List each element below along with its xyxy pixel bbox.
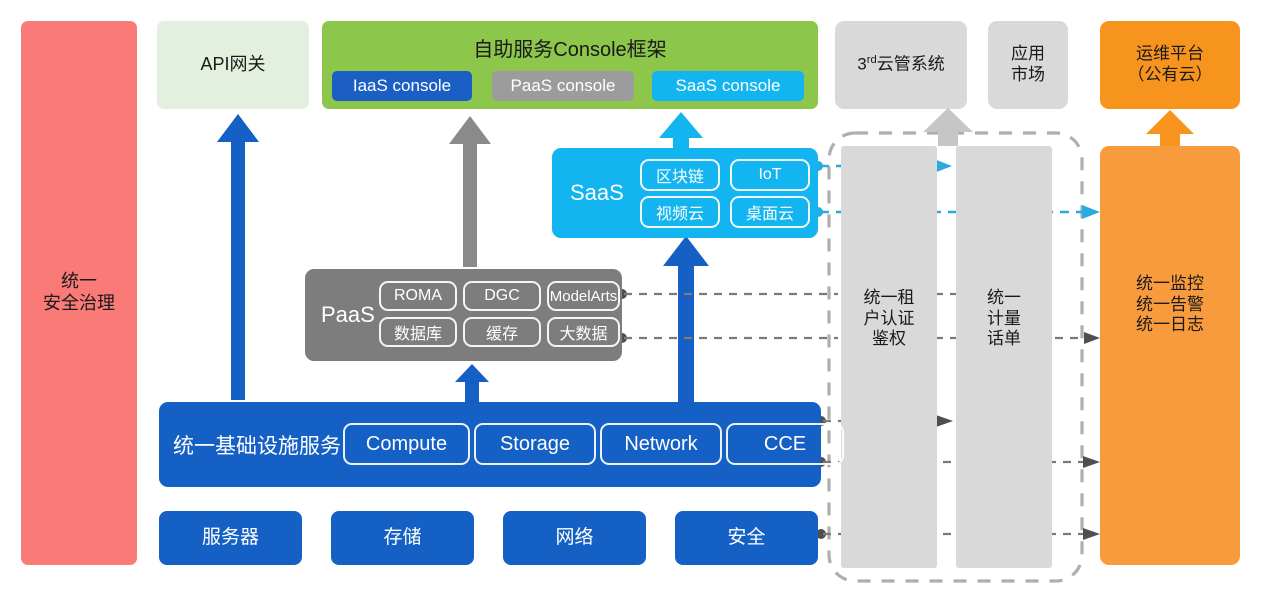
third-party-cloud-mgmt-label: 3rd云管系统	[857, 54, 944, 75]
paas-item-cache[interactable]: 缓存	[463, 317, 541, 347]
resource-box-storage-label: 存储	[383, 526, 421, 549]
paas-item-database-label: 数据库	[394, 320, 442, 344]
monitoring-label: 统一监控 统一告警 统一日志	[1136, 274, 1204, 336]
unified-security-governance-block: 统一 安全治理	[21, 21, 137, 565]
paas-block-label: PaaS	[321, 269, 375, 361]
saas-item-video-cloud-label: 视频云	[656, 200, 704, 224]
unified-infrastructure-block: 统一基础设施服务 Compute Storage Network CCE	[159, 402, 821, 487]
infra-item-storage[interactable]: Storage	[474, 423, 596, 465]
paas-item-roma[interactable]: ROMA	[379, 281, 457, 311]
resource-box-security-label: 安全	[727, 526, 765, 549]
paas-item-roma-label: ROMA	[394, 287, 442, 305]
paas-item-bigdata[interactable]: 大数据	[547, 317, 620, 347]
saas-console-chip[interactable]: SaaS console	[652, 71, 804, 101]
paas-item-dgc-label: DGC	[484, 287, 520, 305]
paas-item-bigdata-label: 大数据	[559, 320, 607, 344]
saas-item-desktop-cloud-label: 桌面云	[746, 200, 794, 224]
saas-item-iot[interactable]: IoT	[730, 159, 810, 191]
ops-platform-block: 运维平台 （公有云）	[1100, 21, 1240, 109]
monitoring-column: 统一监控 统一告警 统一日志	[1100, 146, 1240, 565]
infra-item-storage-label: Storage	[500, 433, 570, 456]
shared-service-column-auth: 统一租 户认证 鉴权	[841, 146, 937, 568]
infra-item-compute[interactable]: Compute	[343, 423, 470, 465]
saas-item-blockchain-label: 区块链	[656, 163, 704, 187]
saas-block: SaaS 区块链 IoT 视频云 桌面云	[552, 148, 818, 238]
paas-console-label: PaaS console	[511, 76, 616, 96]
saas-block-label: SaaS	[570, 148, 624, 238]
resource-box-server[interactable]: 服务器	[159, 511, 302, 565]
saas-console-label: SaaS console	[676, 76, 781, 96]
shared-service-metering-label: 统一 计量 话单	[987, 288, 1021, 350]
self-service-console-title: 自助服务Console框架	[322, 33, 818, 62]
resource-box-network-label: 网络	[555, 526, 593, 549]
iaas-console-chip[interactable]: IaaS console	[332, 71, 472, 101]
infra-item-network-label: Network	[624, 433, 697, 456]
infra-item-cce-label: CCE	[764, 433, 806, 456]
app-market-label: 应用 市场	[1011, 44, 1045, 85]
saas-item-desktop-cloud[interactable]: 桌面云	[730, 196, 810, 228]
paas-item-cache-label: 缓存	[486, 320, 518, 344]
resource-box-storage[interactable]: 存储	[331, 511, 474, 565]
paas-item-database[interactable]: 数据库	[379, 317, 457, 347]
unified-infrastructure-label: 统一基础设施服务	[173, 402, 341, 487]
paas-item-modelarts-label: ModelArts	[550, 288, 618, 305]
infra-item-network[interactable]: Network	[600, 423, 722, 465]
api-gateway-block: API网关	[157, 21, 309, 109]
iaas-console-label: IaaS console	[353, 76, 451, 96]
api-gateway-label: API网关	[200, 54, 265, 76]
paas-console-chip[interactable]: PaaS console	[492, 71, 634, 101]
third-party-cloud-mgmt-block: 3rd云管系统	[835, 21, 967, 109]
unified-security-governance-label: 统一 安全治理	[43, 271, 115, 315]
resource-box-network[interactable]: 网络	[503, 511, 646, 565]
app-market-block: 应用 市场	[988, 21, 1068, 109]
paas-item-dgc[interactable]: DGC	[463, 281, 541, 311]
saas-item-blockchain[interactable]: 区块链	[640, 159, 720, 191]
infra-item-compute-label: Compute	[366, 433, 447, 456]
infra-item-cce[interactable]: CCE	[726, 423, 844, 465]
superscript-rd: rd	[867, 54, 877, 66]
paas-item-modelarts[interactable]: ModelArts	[547, 281, 620, 311]
resource-box-security[interactable]: 安全	[675, 511, 818, 565]
saas-item-iot-label: IoT	[758, 166, 781, 184]
shared-service-auth-label: 统一租 户认证 鉴权	[864, 288, 915, 350]
paas-block: PaaS ROMA DGC ModelArts 数据库 缓存 大数据	[305, 269, 622, 361]
shared-service-column-metering: 统一 计量 话单	[956, 146, 1052, 568]
architecture-diagram: 统一 安全治理 API网关 自助服务Console框架 IaaS console…	[0, 0, 1265, 605]
saas-item-video-cloud[interactable]: 视频云	[640, 196, 720, 228]
ops-platform-label: 运维平台 （公有云）	[1128, 44, 1213, 85]
resource-box-server-label: 服务器	[202, 526, 259, 549]
self-service-console-frame: 自助服务Console框架 IaaS console PaaS console …	[322, 21, 818, 109]
